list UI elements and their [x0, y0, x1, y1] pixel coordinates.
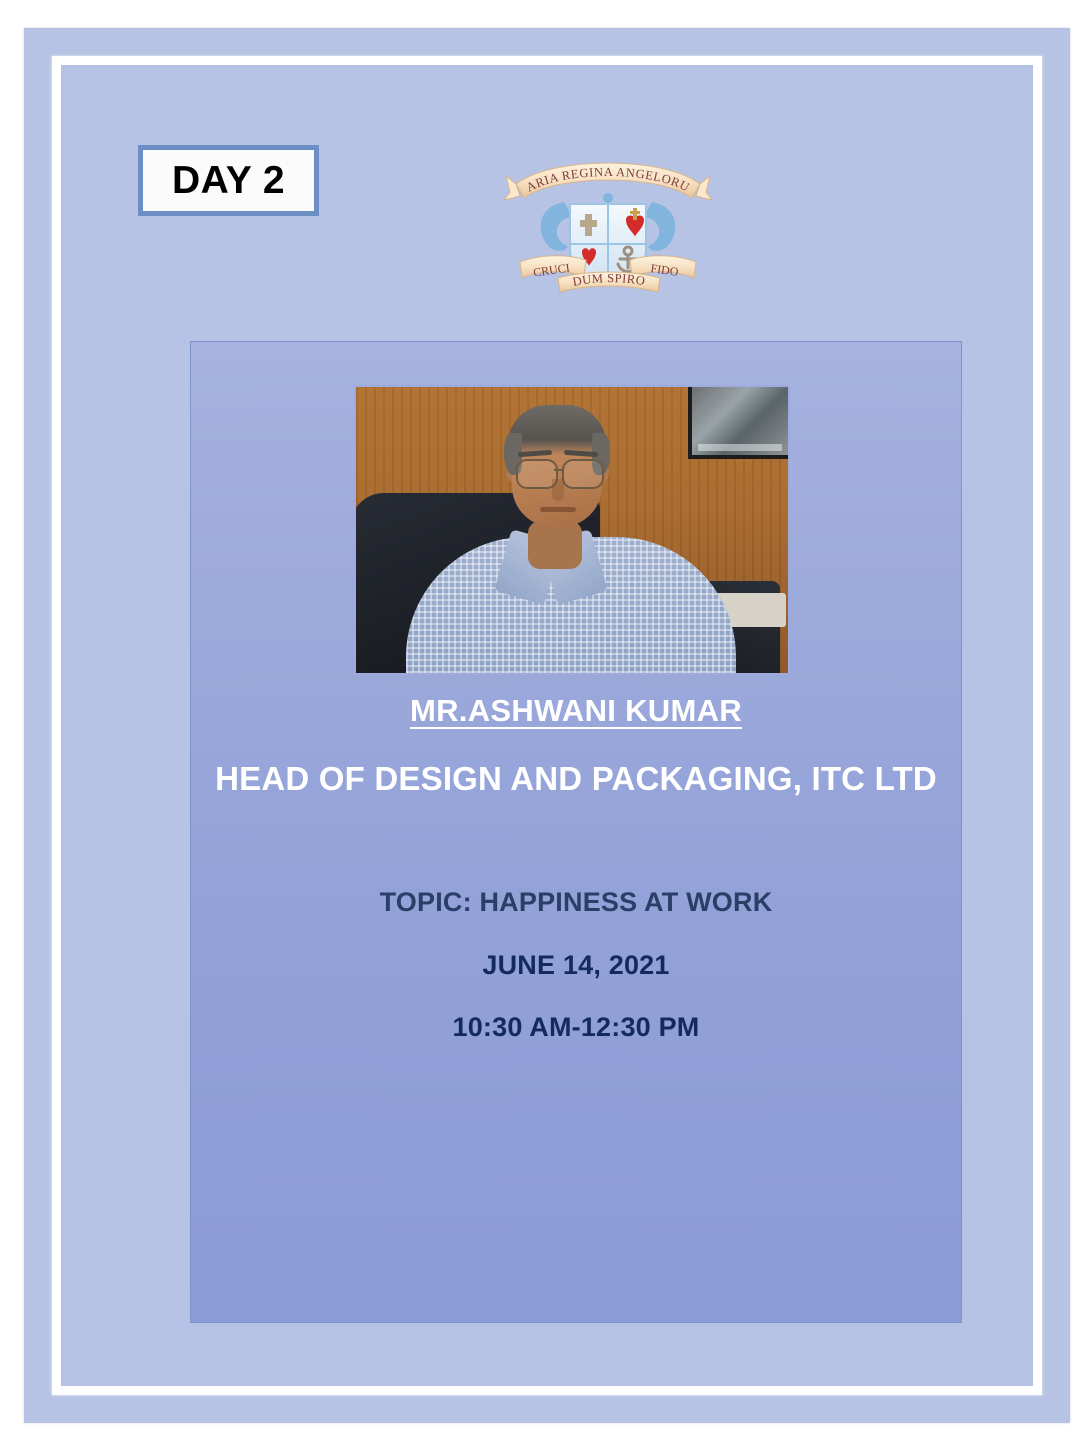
- session-topic: TOPIC: HAPPINESS AT WORK: [191, 887, 961, 918]
- photo-wall-picture-frame: [688, 387, 788, 459]
- poster-page: DAY 2: [0, 0, 1087, 1449]
- speaker-photo: [356, 387, 788, 673]
- photo-speaker-neck: [528, 521, 582, 569]
- content-panel: MR.ASHWANI KUMAR HEAD OF DESIGN AND PACK…: [190, 341, 962, 1323]
- day-badge: DAY 2: [138, 145, 319, 216]
- photo-speaker-nose: [552, 479, 564, 501]
- day-badge-label: DAY 2: [172, 161, 285, 200]
- photo-glasses-bridge: [554, 469, 564, 471]
- photo-glasses-lens-right: [562, 459, 604, 489]
- speaker-name: MR.ASHWANI KUMAR: [191, 693, 961, 729]
- session-time: 10:30 AM-12:30 PM: [191, 1012, 961, 1043]
- school-crest-logo: MARIA REGINA ANGELORUM CRUCI FIDO DUM SP…: [502, 158, 714, 298]
- session-date: JUNE 14, 2021: [191, 950, 961, 981]
- crest-icon: MARIA REGINA ANGELORUM CRUCI FIDO DUM SP…: [502, 158, 714, 298]
- poster-canvas: DAY 2: [24, 28, 1070, 1423]
- photo-speaker-mouth: [540, 507, 576, 512]
- speaker-role: HEAD OF DESIGN AND PACKAGING, ITC LTD: [191, 760, 961, 798]
